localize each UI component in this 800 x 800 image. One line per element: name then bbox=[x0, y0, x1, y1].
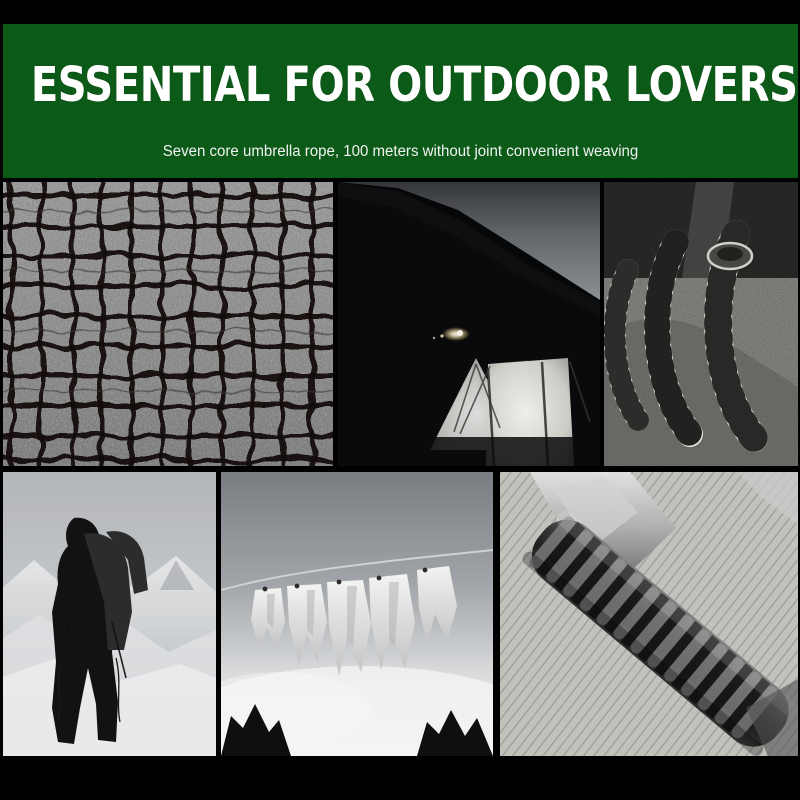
feature-photo-grid: netting bbox=[0, 182, 800, 756]
frame-edge-top bbox=[0, 0, 800, 24]
photo-cell-wilderness[interactable]: Wilderness survival bbox=[0, 472, 216, 756]
header-banner: ESSENTIAL FOR OUTDOOR LOVERS Seven core … bbox=[3, 24, 798, 178]
photo-cell-bracelet[interactable]: The rope bracelet bbox=[604, 182, 800, 466]
photo-cell-handle[interactable]: The handle bundling bbox=[500, 472, 800, 756]
page-title: ESSENTIAL FOR OUTDOOR LOVERS bbox=[31, 60, 770, 110]
netting-photo bbox=[0, 182, 333, 466]
clothes-photo bbox=[221, 472, 493, 756]
photo-cell-netting[interactable]: netting bbox=[0, 182, 333, 466]
handle-photo bbox=[500, 472, 800, 756]
wilderness-photo bbox=[0, 472, 216, 756]
tent-photo bbox=[338, 182, 600, 466]
page-subtitle: Seven core umbrella rope, 100 meters wit… bbox=[15, 142, 786, 162]
frame-edge-left bbox=[0, 0, 3, 800]
bracelet-photo bbox=[604, 182, 800, 466]
frame-edge-bottom bbox=[0, 756, 800, 800]
photo-cell-clothes[interactable]: Cool clothes rope bbox=[221, 472, 493, 756]
photo-cell-tent[interactable]: Tent rope wind bbox=[338, 182, 600, 466]
